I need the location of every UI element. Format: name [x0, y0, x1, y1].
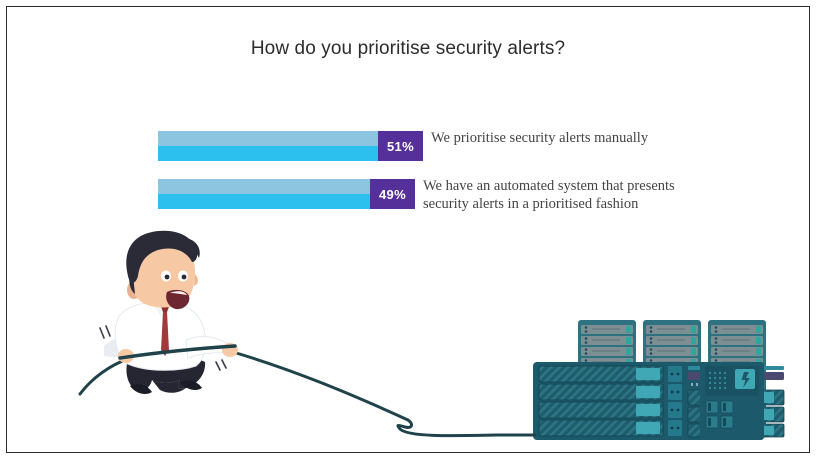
- bar-value-badge: 51%: [378, 131, 423, 161]
- bar-segment-bright: [158, 146, 378, 161]
- character-collar: [152, 301, 174, 321]
- network-cable: [80, 352, 535, 436]
- chart-row: 51% We prioritise security alerts manual…: [158, 131, 778, 161]
- character-legs: [126, 354, 205, 394]
- character-head: [126, 231, 200, 309]
- character-tie: [160, 304, 170, 356]
- slide-frame-border: [6, 6, 810, 453]
- server-side-panel: [700, 362, 764, 440]
- bar-segment-bright: [158, 194, 370, 209]
- character-shirt: [115, 302, 205, 370]
- rope-segment: [120, 346, 235, 358]
- server-indicator-column: [668, 366, 682, 436]
- bar-track: [158, 179, 370, 209]
- page-title: How do you prioritise security alerts?: [0, 38, 816, 60]
- character-right-sleeve: [186, 337, 230, 358]
- illustration: [0, 0, 816, 459]
- slide-canvas: How do you prioritise security alerts? 5…: [0, 0, 816, 459]
- server-rack-back-left: [578, 320, 636, 372]
- bar-value-badge: 49%: [370, 179, 415, 209]
- bar-segment-light: [158, 179, 370, 194]
- chart-row: 49% We have an automated system that pre…: [158, 179, 778, 209]
- bar-track: [158, 131, 378, 161]
- server-rack-tall-right: [708, 320, 766, 438]
- server-rack-back-middle: [643, 320, 701, 372]
- server-screen: [636, 368, 660, 434]
- bar-segment-light: [158, 131, 378, 146]
- motion-lines: [100, 326, 226, 370]
- character-businessman: [100, 231, 238, 394]
- server-console-center: [688, 366, 784, 437]
- character-hand-right: [222, 343, 238, 357]
- character-hand-left: [118, 349, 134, 363]
- bar-chart: 51% We prioritise security alerts manual…: [158, 131, 778, 227]
- bar-category-label: We have an automated system that present…: [423, 177, 723, 213]
- character-left-sleeve: [104, 335, 145, 357]
- bar-category-label: We prioritise security alerts manually: [431, 129, 731, 147]
- server-drive-column-left: [539, 366, 663, 436]
- server-rack-front-main: [533, 362, 784, 440]
